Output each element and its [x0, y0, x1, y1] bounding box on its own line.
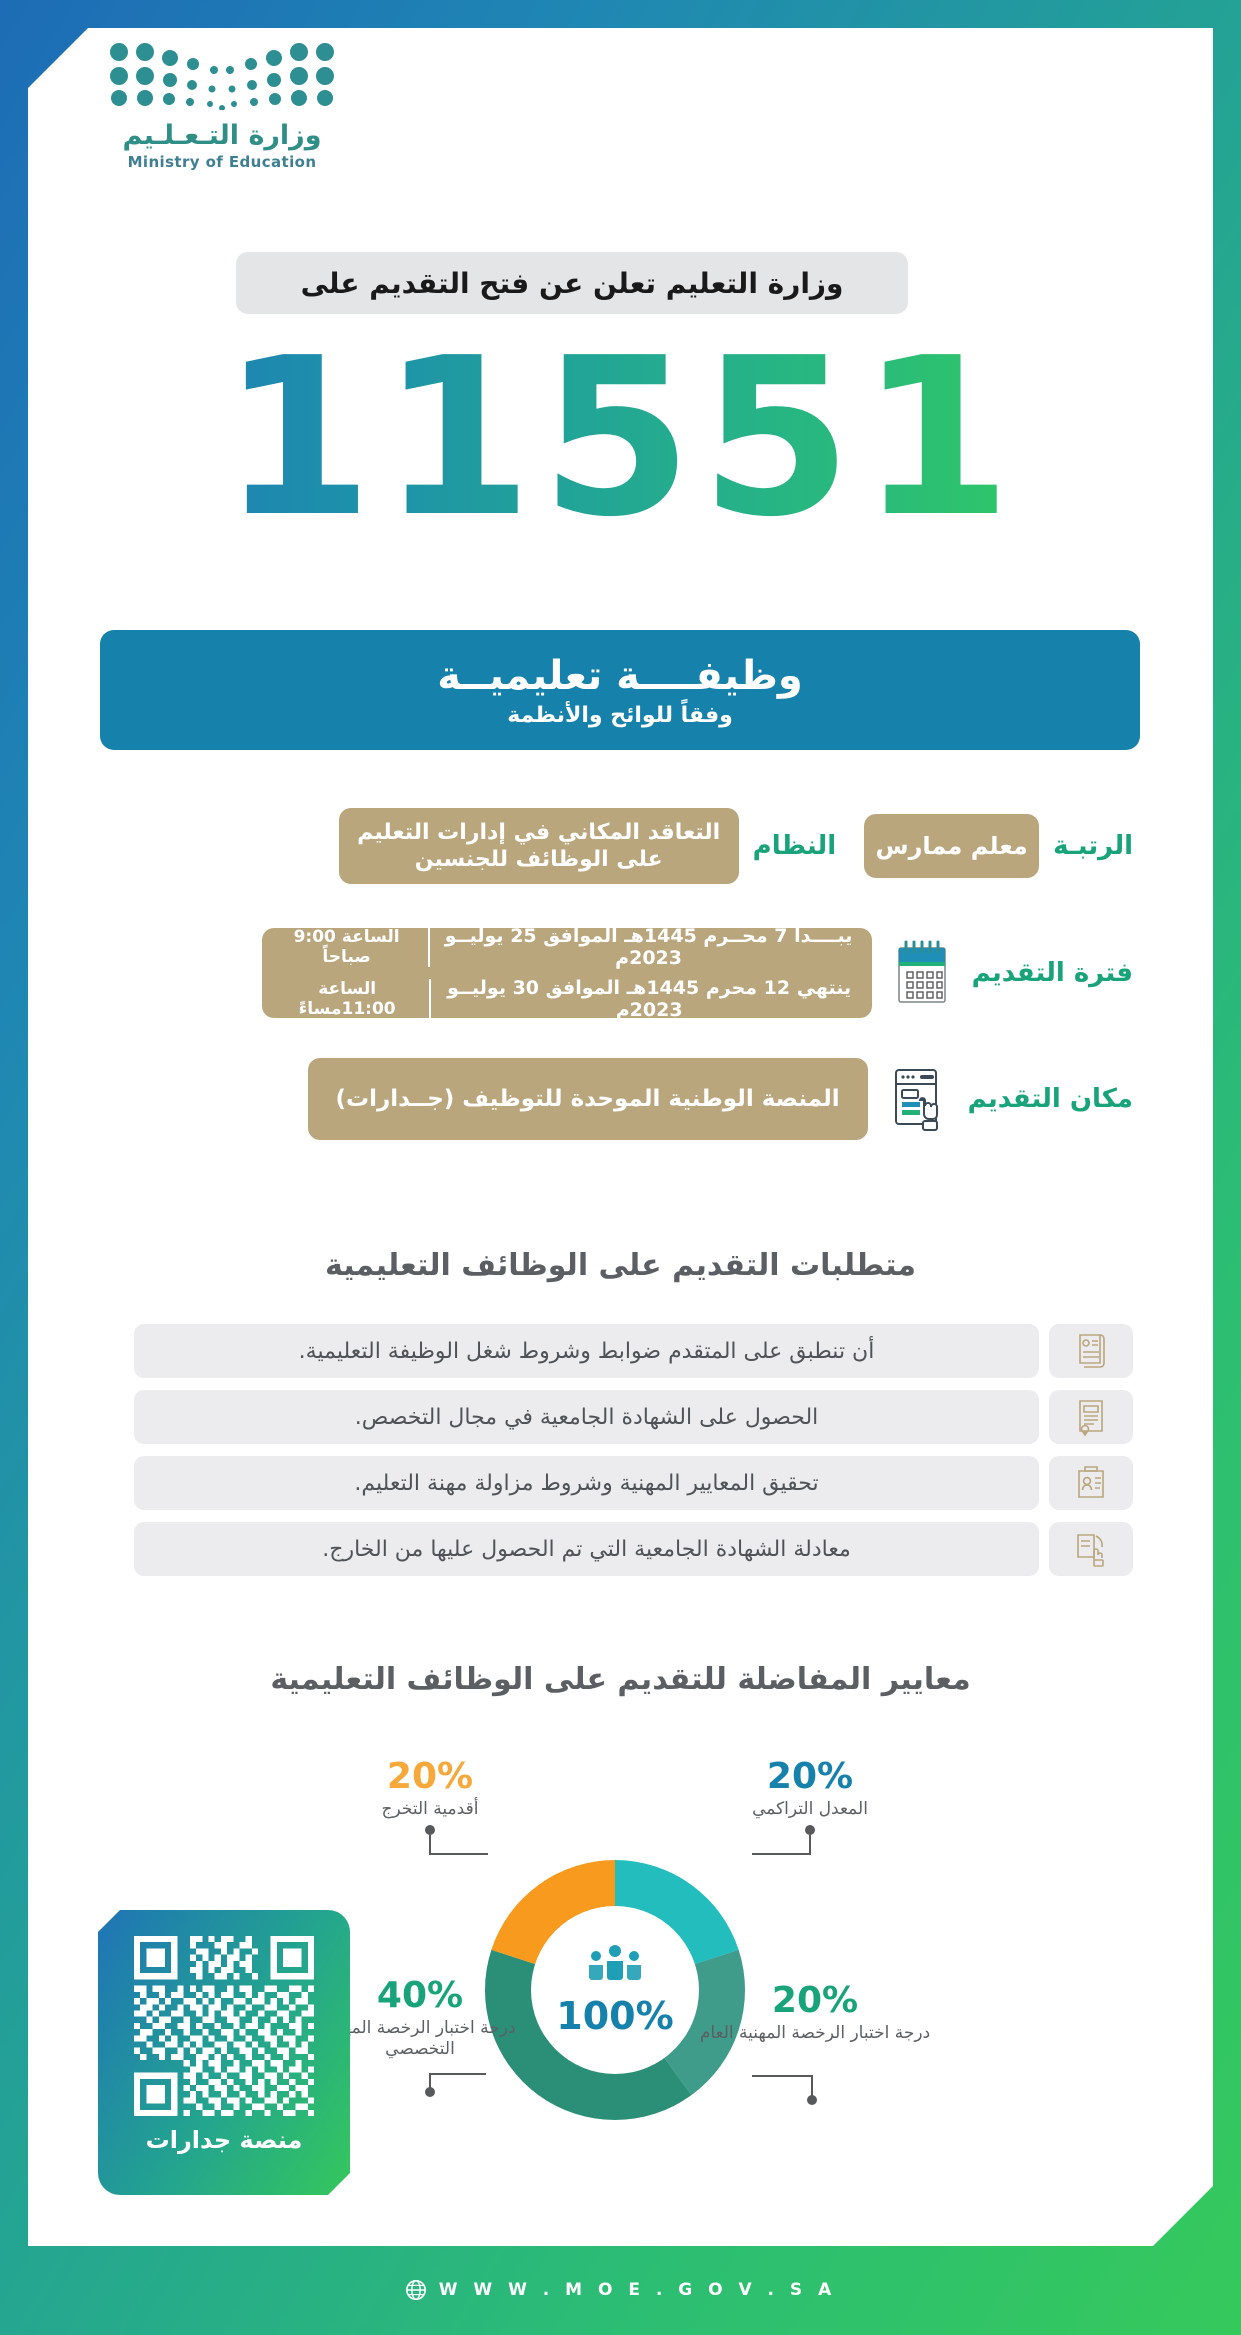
criteria-heading: معايير المفاضلة للتقديم على الوظائف التع… — [0, 1658, 1241, 1705]
banner-subtitle: وفقاً للوائح والأنظمة — [507, 703, 733, 728]
moe-dots-emblem — [97, 38, 347, 110]
system-value: التعاقد المكاني في إدارات التعليم على ال… — [339, 808, 739, 884]
label-general-license: 20% درجة اختبار الرخصة المهنية العام — [690, 1980, 940, 2044]
id-card-icon — [1049, 1456, 1133, 1510]
period-start-text: يبــــدأ 7 محــرم 1445هـ الموافق 25 يولي… — [442, 925, 856, 969]
label-grad-value: 20% — [310, 1756, 550, 1797]
label-gpa-name: المعدل التراكمي — [690, 1799, 930, 1820]
label-gen-name: درجة اختبار الرخصة المهنية العام — [690, 2023, 940, 2044]
requirements-heading-text: متطلبات التقديم على الوظائف التعليمية — [303, 1244, 938, 1291]
requirement-row-4: معادلة الشهادة الجامعية التي تم الحصول ع… — [134, 1522, 1133, 1576]
job-count-number: 11551 — [0, 330, 1241, 548]
banner-title: وظيفــــة تعليميــة — [437, 653, 803, 699]
system-label: النظام — [753, 831, 836, 861]
document-hand-icon — [1049, 1522, 1133, 1576]
web-form-click-icon — [882, 1060, 954, 1138]
donut-center-value: 100% — [556, 1994, 673, 2038]
certificate-scroll-icon — [1049, 1324, 1133, 1378]
row-application-place: مكان التقديم المنصة الوطنية الموحدة للتو… — [308, 1058, 1133, 1140]
period-end-text: ينتهي 12 محرم 1445هـ الموافق 30 يوليــو … — [443, 977, 856, 1021]
requirement-text-1: أن تنطبق على المتقدم ضوابط وشروط شغل الو… — [134, 1324, 1039, 1378]
row-rank-system: الرتبـة معلم ممارس النظام التعاقد المكان… — [339, 808, 1133, 884]
job-title-banner: وظيفــــة تعليميــة وفقاً للوائح والأنظم… — [100, 630, 1140, 750]
ministry-logo: وزارة التـعـلـيم Ministry of Education — [62, 38, 382, 171]
logo-text-arabic: وزارة التـعـلـيم — [62, 120, 382, 151]
footer: W W W . M O E . G O V . S A — [0, 2279, 1241, 2301]
headline-banner: وزارة التعليم تعلن عن فتح التقديم على — [236, 252, 908, 314]
label-gpa: 20% المعدل التراكمي — [690, 1756, 930, 1820]
period-value: يبــــدأ 7 محــرم 1445هـ الموافق 25 يولي… — [262, 928, 872, 1018]
requirement-row-2: الحصول على الشهادة الجامعية في مجال التخ… — [134, 1390, 1133, 1444]
place-value: المنصة الوطنية الموحدة للتوظيف (جــدارات… — [308, 1058, 868, 1140]
qr-card[interactable]: منصة جدارات — [98, 1910, 350, 2195]
period-start-time: الساعة 9:00 صباحاً — [278, 927, 430, 967]
requirement-row-3: تحقيق المعايير المهنية وشروط مزاولة مهنة… — [134, 1456, 1133, 1510]
qr-label: منصة جدارات — [146, 2126, 303, 2154]
label-grad-name: أقدمية التخرج — [310, 1799, 550, 1820]
requirements-heading: متطلبات التقديم على الوظائف التعليمية — [0, 1244, 1241, 1291]
globe-icon — [405, 2279, 427, 2301]
requirement-text-4: معادلة الشهادة الجامعية التي تم الحصول ع… — [134, 1522, 1039, 1576]
place-label: مكان التقديم — [968, 1084, 1133, 1114]
label-graduation-seniority: 20% أقدمية التخرج — [310, 1756, 550, 1820]
criteria-heading-text: معايير المفاضلة للتقديم على الوظائف التع… — [248, 1658, 992, 1705]
diploma-seal-icon — [1049, 1390, 1133, 1444]
period-label: فترة التقديم — [972, 958, 1133, 988]
period-end-time: الساعة 11:00مساءً — [278, 979, 431, 1019]
people-group-icon — [583, 1942, 647, 1990]
requirement-text-2: الحصول على الشهادة الجامعية في مجال التخ… — [134, 1390, 1039, 1444]
requirement-text-3: تحقيق المعايير المهنية وشروط مزاولة مهنة… — [134, 1456, 1039, 1510]
label-gen-value: 20% — [690, 1980, 940, 2021]
logo-text-english: Ministry of Education — [62, 153, 382, 171]
label-gpa-value: 20% — [690, 1756, 930, 1797]
rank-label: الرتبـة — [1053, 831, 1133, 861]
row-application-period: فترة التقديم يبــــدأ 7 محــرم — [262, 928, 1133, 1018]
footer-url[interactable]: W W W . M O E . G O V . S A — [439, 2280, 837, 2300]
donut-center: 100% — [531, 1906, 699, 2074]
calendar-icon — [886, 934, 958, 1012]
rank-value: معلم ممارس — [864, 814, 1039, 878]
requirement-row-1: أن تنطبق على المتقدم ضوابط وشروط شغل الو… — [134, 1324, 1133, 1378]
qr-code-icon[interactable] — [134, 1936, 314, 2116]
